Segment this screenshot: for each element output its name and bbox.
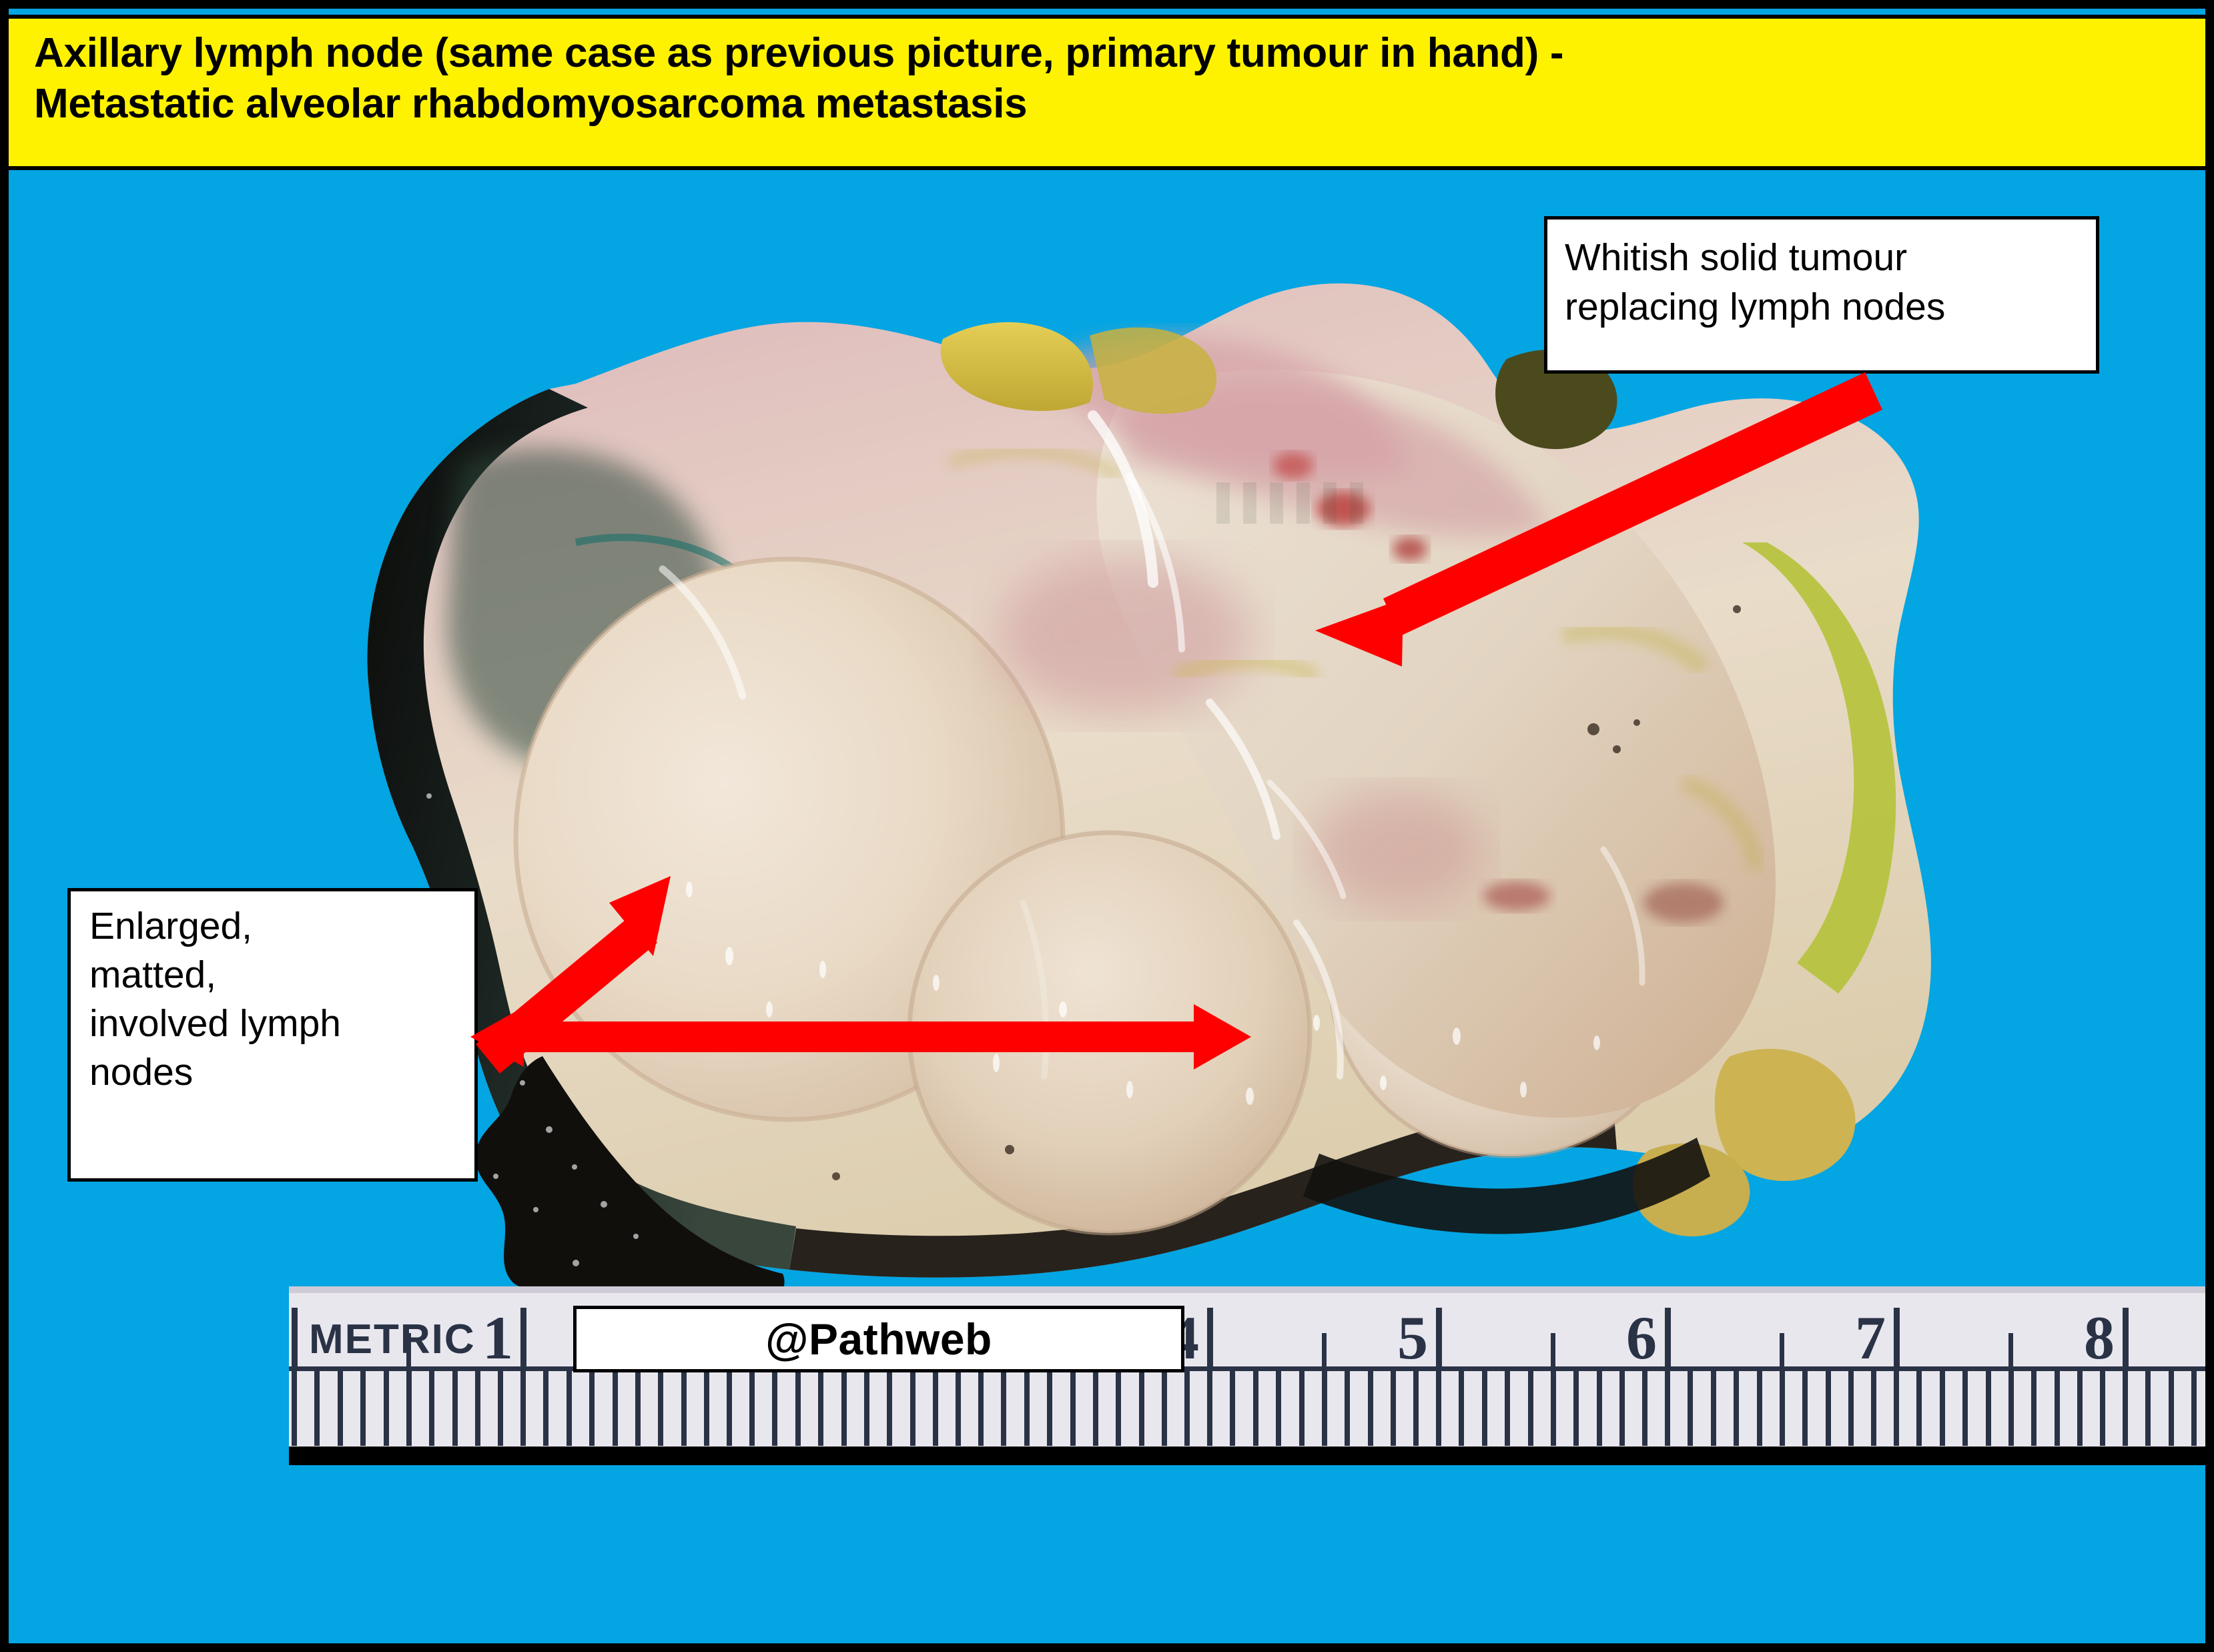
callout-enlarged-nodes-line-1: Enlarged, [89, 902, 474, 951]
ruler-tick-label-8: 8 [2084, 1304, 2115, 1372]
title-banner: Axillary lymph node (same case as previo… [9, 15, 2205, 170]
pink-zone-mid [996, 556, 1250, 716]
haemorrhage-fleck-3 [1273, 452, 1313, 479]
watermark-badge: @Pathweb [573, 1306, 1184, 1372]
slide-root: Axillary lymph node (same case as previo… [0, 0, 2214, 1652]
ruler-tick-label-5: 5 [1397, 1304, 1428, 1372]
ruler-tick-label-1: 1 [482, 1304, 513, 1372]
callout-whitish-tumour-line-1: Whitish solid tumour [1565, 233, 2096, 282]
title-line-1: Axillary lymph node (same case as previo… [34, 28, 2205, 79]
ruler-tick-label-6: 6 [1626, 1304, 1657, 1372]
callout-enlarged-nodes: Enlarged, matted, involved lymph nodes [67, 888, 478, 1182]
ruler-top-edge [289, 1286, 2205, 1293]
title-line-2: Metastatic alveolar rhabdomyosarcoma met… [34, 79, 2205, 129]
watermark-text: @Pathweb [765, 1314, 992, 1364]
callout-whitish-tumour-line-2: replacing lymph nodes [1565, 282, 2096, 332]
haemorrhage-fleck-2 [1393, 537, 1427, 561]
specimen-body [367, 284, 1930, 1316]
pink-zone-lower [1310, 789, 1483, 909]
ruler-base-bar [289, 1447, 2205, 1465]
ruler-metric-label: METRIC [309, 1316, 476, 1362]
ruler-tick-label-7: 7 [1855, 1304, 1886, 1372]
haemorrhage-fleck-4 [1483, 881, 1550, 911]
callout-enlarged-nodes-line-3: involved lymph [89, 999, 474, 1048]
callout-enlarged-nodes-line-2: matted, [89, 951, 474, 999]
callout-enlarged-nodes-line-4: nodes [89, 1048, 474, 1097]
callout-whitish-tumour: Whitish solid tumour replacing lymph nod… [1544, 216, 2099, 374]
haemorrhage-fleck-5 [1643, 883, 1724, 923]
